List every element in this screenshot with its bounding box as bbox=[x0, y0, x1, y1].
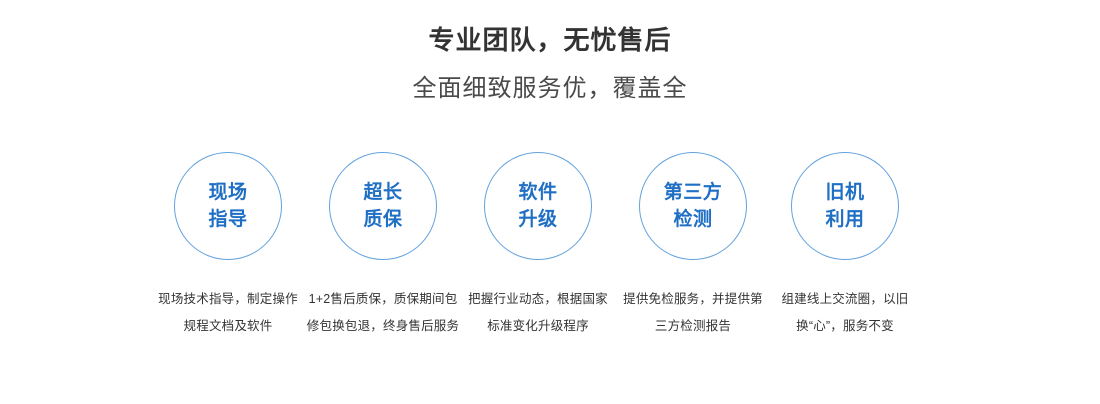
feature-item-1[interactable]: 现场 指导 bbox=[153, 152, 303, 260]
feature-circle-1[interactable]: 现场 指导 bbox=[174, 152, 282, 260]
feature-caption-3: 把握行业动态，根据国家 标准变化升级程序 bbox=[453, 286, 623, 340]
feature-caption-1: 现场技术指导，制定操作 规程文档及软件 bbox=[143, 286, 313, 340]
feature-circle-label-2: 超长 质保 bbox=[363, 179, 402, 233]
feature-caption-4: 提供免检服务，并提供第 三方检测报告 bbox=[608, 286, 778, 340]
feature-caption-2: 1+2售后质保，质保期间包 修包换包退，终身售后服务 bbox=[298, 286, 468, 340]
feature-circle-label-4: 第三方 检测 bbox=[664, 179, 723, 233]
feature-item-3[interactable]: 软件 升级 bbox=[463, 152, 613, 260]
page-title: 专业团队，无忧售后 bbox=[0, 22, 1100, 58]
feature-circle-5[interactable]: 旧机 利用 bbox=[791, 152, 899, 260]
heading-block: 专业团队，无忧售后 全面细致服务优，覆盖全 bbox=[0, 22, 1100, 106]
feature-circles-row: 现场 指导 超长 质保 软件 升级 第三方 检测 旧机 利用 bbox=[0, 152, 1100, 270]
feature-circle-label-3: 软件 升级 bbox=[518, 179, 557, 233]
feature-circle-3[interactable]: 软件 升级 bbox=[484, 152, 592, 260]
feature-item-5[interactable]: 旧机 利用 bbox=[770, 152, 920, 260]
feature-circle-2[interactable]: 超长 质保 bbox=[329, 152, 437, 260]
page-subtitle: 全面细致服务优，覆盖全 bbox=[0, 72, 1100, 106]
feature-circle-label-1: 现场 指导 bbox=[208, 179, 247, 233]
promo-banner: 专业团队，无忧售后 全面细致服务优，覆盖全 现场 指导 超长 质保 软件 升级 … bbox=[0, 0, 1100, 404]
feature-item-4[interactable]: 第三方 检测 bbox=[618, 152, 768, 260]
feature-item-2[interactable]: 超长 质保 bbox=[308, 152, 458, 260]
feature-circle-label-5: 旧机 利用 bbox=[825, 179, 864, 233]
feature-caption-5: 组建线上交流圈，以旧 换“心”，服务不变 bbox=[760, 286, 930, 340]
feature-circle-4[interactable]: 第三方 检测 bbox=[639, 152, 747, 260]
